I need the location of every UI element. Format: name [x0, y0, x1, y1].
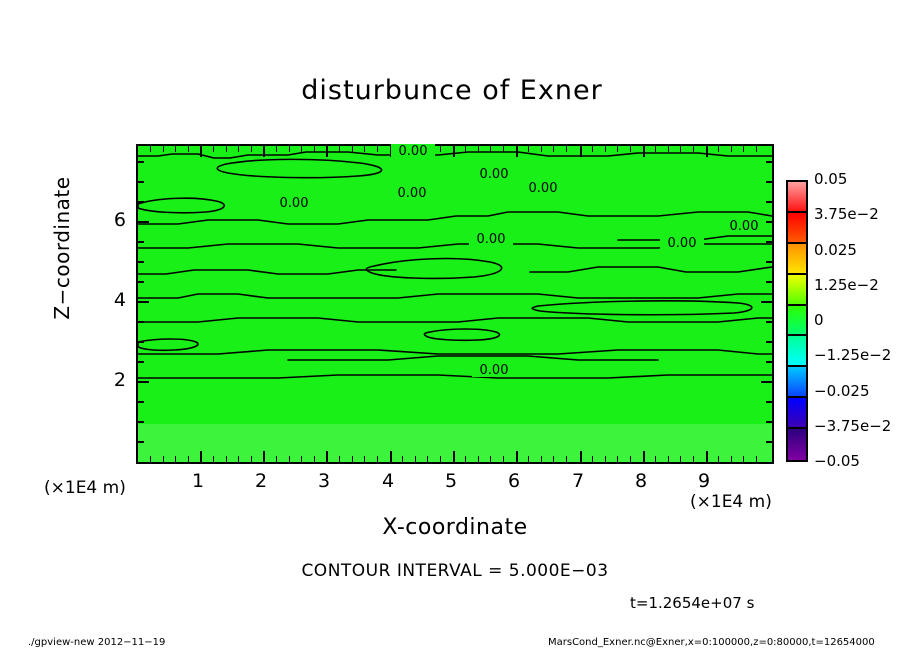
x-tick-minor [478, 456, 479, 462]
x-tick-label: 2 [241, 470, 281, 492]
y-axis-title: Z−coordinate [50, 168, 74, 328]
x-tick-minor [415, 456, 416, 462]
contour-interval-label: CONTOUR INTERVAL = 5.000E−03 [250, 561, 660, 581]
x-tick-minor-top [756, 146, 757, 152]
x-tick-minor-top [605, 146, 606, 152]
colorbar-band [788, 213, 806, 244]
x-tick-minor [188, 456, 189, 462]
x-tick-minor-top [541, 146, 542, 152]
x-axis-unit-left: (×1E4 m) [44, 478, 126, 498]
y-tick-label: 4 [104, 289, 126, 311]
x-tick-minor-top [226, 146, 227, 152]
x-tick-major-top [200, 146, 202, 157]
colorbar-tick-label: 0.025 [814, 241, 857, 259]
y-tick-minor [138, 181, 144, 183]
y-tick-major-right [761, 381, 772, 383]
x-tick-minor-top [617, 146, 618, 152]
x-tick-major-top [580, 146, 582, 157]
x-tick-major [200, 451, 202, 462]
x-axis-title: X-coordinate [250, 515, 660, 540]
x-tick-minor [213, 456, 214, 462]
x-tick-major-top [516, 146, 518, 157]
plot-area [136, 144, 774, 464]
colorbar-tick-label: 3.75e−2 [814, 205, 879, 223]
x-tick-minor-top [251, 146, 252, 152]
x-tick-minor [440, 456, 441, 462]
x-tick-minor [630, 456, 631, 462]
y-tick-minor [138, 201, 144, 203]
x-tick-minor-top [630, 146, 631, 152]
x-tick-minor-top [276, 146, 277, 152]
x-tick-minor-top [352, 146, 353, 152]
y-tick-minor [138, 261, 144, 263]
y-tick-minor-right [766, 161, 772, 163]
x-tick-minor-top [427, 146, 428, 152]
y-tick-minor [138, 401, 144, 403]
x-tick-major-top [453, 146, 455, 157]
y-tick-minor [138, 361, 144, 363]
x-tick-minor-top [314, 146, 315, 152]
x-tick-minor [314, 456, 315, 462]
y-tick-major-right [761, 221, 772, 223]
x-tick-minor-top [213, 146, 214, 152]
x-tick-minor [731, 456, 732, 462]
contour-lines [138, 146, 772, 462]
x-tick-minor-top [175, 146, 176, 152]
colorbar-tick-label: 0.05 [814, 170, 847, 188]
x-tick-minor-top [592, 146, 593, 152]
x-tick-minor-top [731, 146, 732, 152]
y-tick-label: 6 [104, 209, 126, 231]
x-tick-label: 8 [621, 470, 661, 492]
y-tick-major [138, 381, 149, 383]
x-tick-minor-top [150, 146, 151, 152]
colorbar-band [788, 275, 806, 306]
x-tick-minor-top [377, 146, 378, 152]
y-tick-major-right [761, 301, 772, 303]
x-tick-minor [465, 456, 466, 462]
x-tick-minor [238, 456, 239, 462]
x-tick-minor [617, 456, 618, 462]
x-tick-minor [150, 456, 151, 462]
x-tick-minor-top [163, 146, 164, 152]
x-tick-minor-top [680, 146, 681, 152]
x-tick-minor-top [553, 146, 554, 152]
x-tick-major-top [263, 146, 265, 157]
y-tick-minor [138, 161, 144, 163]
page-title: disturbunce of Exner [0, 75, 904, 106]
x-tick-minor-top [693, 146, 694, 152]
x-tick-minor-top [465, 146, 466, 152]
y-tick-minor [138, 281, 144, 283]
x-tick-minor-top [402, 146, 403, 152]
colorbar-tick-label: −3.75e−2 [814, 417, 891, 435]
x-tick-minor [503, 456, 504, 462]
y-tick-major [138, 221, 149, 223]
x-tick-minor-top [364, 146, 365, 152]
y-tick-minor-right [766, 441, 772, 443]
colorbar-tick-label: −0.05 [814, 452, 860, 470]
x-tick-minor [680, 456, 681, 462]
x-tick-minor [528, 456, 529, 462]
x-tick-minor [226, 456, 227, 462]
x-tick-major-top [706, 146, 708, 157]
x-tick-minor-top [440, 146, 441, 152]
x-tick-major [453, 451, 455, 462]
y-tick-minor-right [766, 281, 772, 283]
x-tick-minor-top [490, 146, 491, 152]
x-tick-minor-top [415, 146, 416, 152]
x-tick-minor-top [566, 146, 567, 152]
x-tick-minor [592, 456, 593, 462]
time-stamp-label: t=1.2654e+07 s [630, 594, 754, 612]
x-tick-minor [175, 456, 176, 462]
x-tick-major [390, 451, 392, 462]
x-tick-minor-top [238, 146, 239, 152]
x-tick-major-top [643, 146, 645, 157]
x-tick-major [643, 451, 645, 462]
y-tick-minor [138, 421, 144, 423]
colorbar-tick-label: −0.025 [814, 382, 870, 400]
footer-right-label: MarsCond_Exner.nc@Exner,x=0:100000,z=0:8… [548, 637, 875, 648]
x-tick-minor-top [289, 146, 290, 152]
colorbar-band [788, 367, 806, 398]
x-tick-label: 5 [431, 470, 471, 492]
x-tick-minor [289, 456, 290, 462]
x-tick-major-top [326, 146, 328, 157]
colorbar-tick-label: 1.25e−2 [814, 276, 879, 294]
x-tick-minor [668, 456, 669, 462]
x-tick-minor [251, 456, 252, 462]
colorbar-band [788, 398, 806, 429]
y-tick-label: 2 [104, 369, 126, 391]
x-tick-minor [693, 456, 694, 462]
x-tick-minor [756, 456, 757, 462]
x-tick-label: 4 [368, 470, 408, 492]
y-tick-minor-right [766, 321, 772, 323]
x-tick-minor [377, 456, 378, 462]
y-tick-major [138, 301, 149, 303]
y-tick-minor-right [766, 181, 772, 183]
x-tick-minor-top [718, 146, 719, 152]
colorbar-band [788, 336, 806, 367]
x-tick-minor-top [528, 146, 529, 152]
x-tick-minor [276, 456, 277, 462]
x-tick-minor [605, 456, 606, 462]
x-tick-label: 7 [558, 470, 598, 492]
footer-left-label: ./gpview-new 2012−11−19 [28, 637, 165, 648]
colorbar [786, 180, 808, 462]
x-tick-label: 6 [494, 470, 534, 492]
x-tick-major [263, 451, 265, 462]
x-tick-minor [427, 456, 428, 462]
y-tick-minor-right [766, 241, 772, 243]
y-tick-minor-right [766, 401, 772, 403]
colorbar-tick-label: −1.25e−2 [814, 346, 891, 364]
y-tick-minor-right [766, 341, 772, 343]
y-tick-minor [138, 241, 144, 243]
x-tick-minor [566, 456, 567, 462]
x-tick-major [516, 451, 518, 462]
x-tick-minor [490, 456, 491, 462]
y-tick-minor-right [766, 361, 772, 363]
x-tick-major [326, 451, 328, 462]
y-tick-minor [138, 441, 144, 443]
x-tick-label: 1 [178, 470, 218, 492]
y-tick-minor-right [766, 201, 772, 203]
x-tick-minor [339, 456, 340, 462]
x-tick-major [580, 451, 582, 462]
x-tick-minor-top [668, 146, 669, 152]
x-tick-minor [655, 456, 656, 462]
x-tick-minor-top [503, 146, 504, 152]
x-tick-minor [743, 456, 744, 462]
y-tick-minor-right [766, 261, 772, 263]
colorbar-band [788, 429, 806, 460]
y-tick-minor [138, 321, 144, 323]
y-tick-minor [138, 341, 144, 343]
x-tick-minor [402, 456, 403, 462]
colorbar-tick-label: 0 [814, 311, 824, 329]
colorbar-band [788, 306, 806, 337]
x-tick-label: 9 [684, 470, 724, 492]
x-tick-minor [541, 456, 542, 462]
x-tick-minor-top [655, 146, 656, 152]
x-tick-minor-top [339, 146, 340, 152]
colorbar-band [788, 244, 806, 275]
x-tick-minor [364, 456, 365, 462]
x-axis-unit-right: (×1E4 m) [690, 492, 772, 512]
x-tick-major-top [390, 146, 392, 157]
y-tick-minor-right [766, 421, 772, 423]
x-tick-minor [553, 456, 554, 462]
x-tick-minor [163, 456, 164, 462]
x-tick-major [706, 451, 708, 462]
x-tick-minor-top [478, 146, 479, 152]
x-tick-minor [352, 456, 353, 462]
x-tick-minor [301, 456, 302, 462]
x-tick-minor-top [188, 146, 189, 152]
x-tick-minor [718, 456, 719, 462]
colorbar-band [788, 182, 806, 213]
x-tick-minor-top [743, 146, 744, 152]
x-tick-label: 3 [304, 470, 344, 492]
x-tick-minor-top [301, 146, 302, 152]
